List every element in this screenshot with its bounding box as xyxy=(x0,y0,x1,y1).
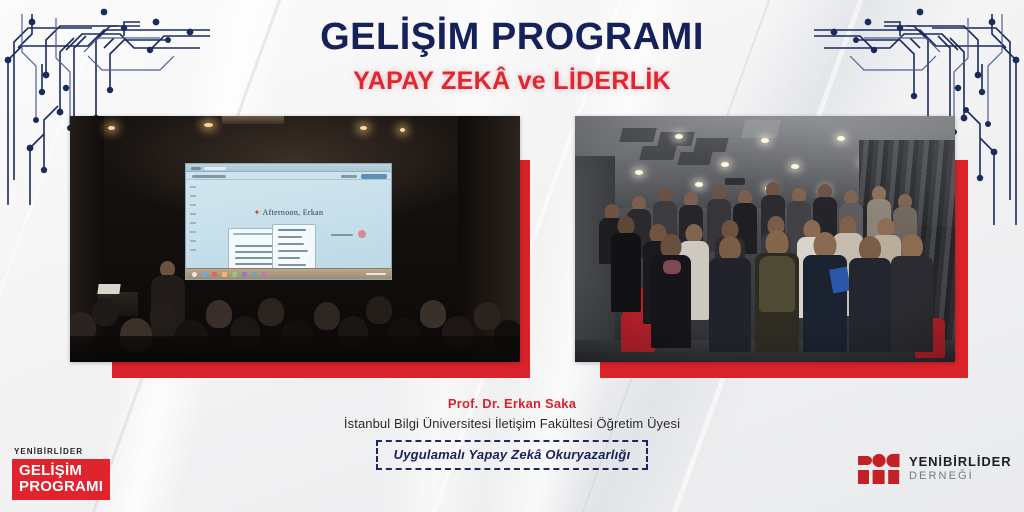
logo-gelisim-programi[interactable]: YENİBİRLİDER GELİŞİM PROGRAMI xyxy=(12,447,114,500)
subtitle-part2: LİDERLİK xyxy=(553,67,671,95)
ui-pill xyxy=(341,175,357,178)
logo-org-name: YENİBİRLİDER xyxy=(12,447,114,456)
ui-pill xyxy=(191,167,201,170)
audience-mass xyxy=(70,336,520,362)
taskbar-icon xyxy=(202,272,207,277)
menu-item xyxy=(235,251,277,253)
submenu-item xyxy=(278,229,306,231)
ceiling-light xyxy=(360,126,367,130)
page-subtitle: YAPAY ZEKÂ ve LİDERLİK xyxy=(0,67,1024,96)
menu-item xyxy=(235,257,273,259)
ceiling-light xyxy=(400,128,405,132)
submenu-item xyxy=(278,257,300,259)
glare xyxy=(575,116,955,226)
taskbar-icon xyxy=(222,272,227,277)
audience-head xyxy=(366,296,392,324)
logo-suffix: DERNEĞİ xyxy=(909,470,1012,483)
audience-head xyxy=(420,300,446,328)
projected-screen: ✦ Afternoon, Erkan xyxy=(185,163,392,280)
taskbar-icon xyxy=(212,272,217,277)
clock xyxy=(366,273,386,275)
logo-line-2: PROGRAMI xyxy=(19,479,103,495)
avatar xyxy=(358,230,366,238)
speaker-name: Prof. Dr. Erkan Saka xyxy=(0,396,1024,411)
audience-head xyxy=(150,302,176,330)
taskbar-icon xyxy=(262,272,267,277)
logo-text: YENİBİRLİDER DERNEĞİ xyxy=(909,455,1012,483)
submenu-item xyxy=(278,236,302,238)
speaker-affiliation: İstanbul Bilgi Üniversitesi İletişim Fak… xyxy=(0,416,1024,431)
sidebar-rail xyxy=(190,186,196,256)
photo-lecture: ✦ Afternoon, Erkan xyxy=(70,116,520,362)
logo-red-box: GELİŞİM PROGRAMI xyxy=(12,459,110,500)
ui-pill xyxy=(361,174,387,179)
submenu-item xyxy=(278,264,306,266)
taskbar-icon xyxy=(252,272,257,277)
taskbar xyxy=(186,268,391,279)
ceiling-light xyxy=(204,123,213,127)
ceiling-light xyxy=(108,126,115,130)
audience-head xyxy=(92,298,118,326)
three-figures-icon xyxy=(858,452,900,486)
photo-group xyxy=(575,116,955,362)
photo-lecture-scene: ✦ Afternoon, Erkan xyxy=(70,116,520,362)
topic-badge: Uygulamalı Yapay Zekâ Okuryazarlığı xyxy=(376,440,649,470)
photo-group-scene xyxy=(575,116,955,362)
submenu-item xyxy=(278,243,304,245)
page-title: GELİŞİM PROGRAMI xyxy=(0,18,1024,58)
logo-line-1: GELİŞİM xyxy=(19,463,103,479)
model-label xyxy=(331,234,353,236)
ceiling-sign xyxy=(222,116,284,124)
ui-pill xyxy=(204,167,226,170)
audience-head xyxy=(258,298,284,326)
taskbar-icon xyxy=(242,272,247,277)
logo-name: YENİBİRLİDER xyxy=(909,455,1012,469)
audience-head xyxy=(314,302,340,330)
header: GELİŞİM PROGRAMI YAPAY ZEKÂ ve LİDERLİK xyxy=(0,18,1024,96)
taskbar-icon xyxy=(232,272,237,277)
logo-yenibirlider-dernegi[interactable]: YENİBİRLİDER DERNEĞİ xyxy=(858,452,1012,486)
submenu-item xyxy=(278,250,308,252)
audience xyxy=(70,290,520,362)
screen-heading-text: Afternoon, Erkan xyxy=(263,208,324,217)
ui-pill xyxy=(192,175,226,178)
screen-heading: ✦ Afternoon, Erkan xyxy=(186,208,391,217)
spark-icon: ✦ xyxy=(254,208,261,217)
audience-head xyxy=(206,300,232,328)
subtitle-connector: ve xyxy=(518,67,546,95)
subtitle-part1: YAPAY ZEKÂ xyxy=(353,67,510,95)
taskbar-icon xyxy=(192,272,197,277)
poster-canvas: GELİŞİM PROGRAMI YAPAY ZEKÂ ve LİDERLİK xyxy=(0,0,1024,512)
prompt-placeholder xyxy=(233,233,277,235)
